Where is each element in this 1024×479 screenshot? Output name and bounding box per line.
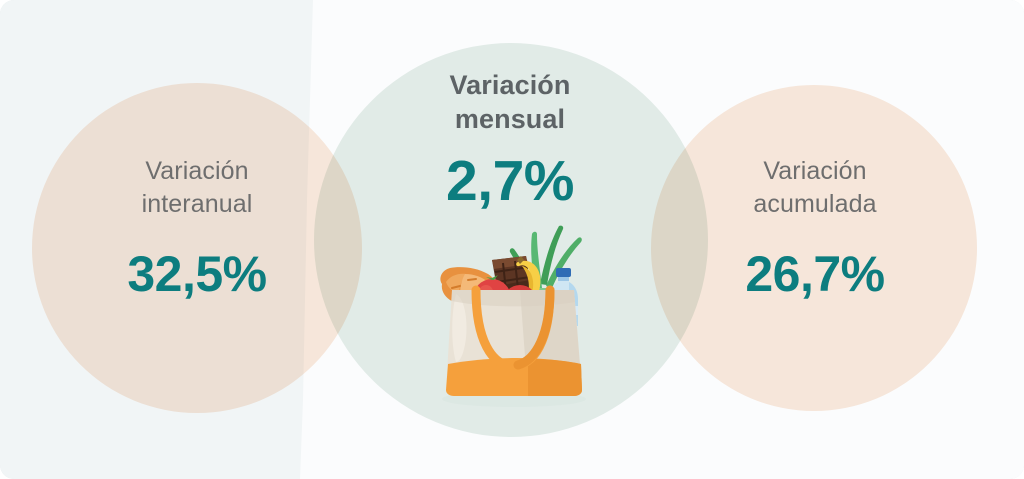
stat-label-variacion-acumulada: Variación acumulada: [680, 155, 950, 221]
stat-variacion-mensual: Variación mensual 2,7%: [360, 68, 660, 210]
stat-label-variacion-mensual: Variación mensual: [360, 68, 660, 137]
bag-body: [446, 290, 582, 396]
stat-variacion-acumulada: Variación acumulada 26,7%: [680, 155, 950, 299]
stat-value-variacion-acumulada: 26,7%: [680, 249, 950, 299]
grocery-bag-icon: [432, 222, 594, 410]
infographic-card: Variación interanual 32,5% Variación men…: [0, 0, 1024, 479]
stat-value-variacion-interanual: 32,5%: [62, 249, 332, 299]
stat-variacion-interanual: Variación interanual 32,5%: [62, 155, 332, 299]
stat-label-variacion-interanual: Variación interanual: [62, 155, 332, 221]
stat-value-variacion-mensual: 2,7%: [360, 153, 660, 210]
